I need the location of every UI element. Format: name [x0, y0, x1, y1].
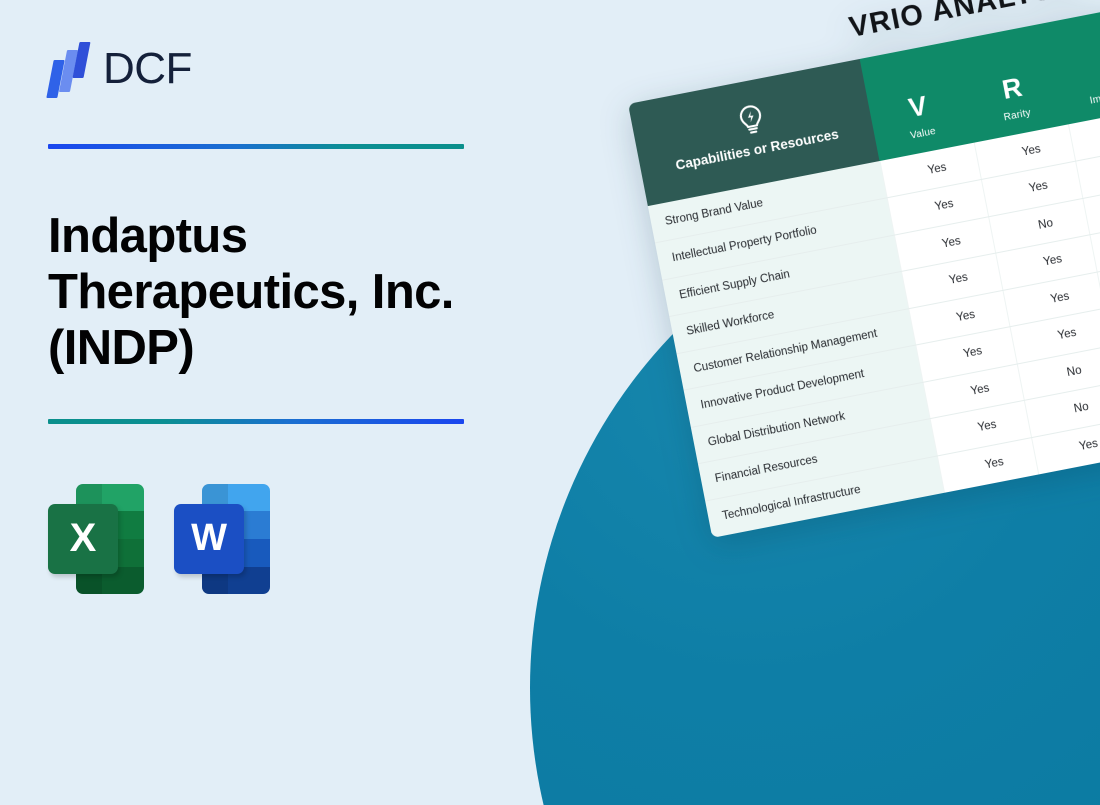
download-formats: X W — [48, 480, 530, 598]
excel-file-icon[interactable]: X — [48, 480, 144, 598]
cover-canvas: DCF Indaptus Therapeutics, Inc. (INDP) X… — [0, 0, 1100, 805]
word-badge-letter: W — [174, 504, 244, 574]
three-bars-logo-icon — [48, 42, 92, 96]
vrio-table-graphic: VRIO ANALYSIS — [628, 0, 1100, 537]
page-title: Indaptus Therapeutics, Inc. (INDP) — [48, 209, 518, 377]
vrio-table: Capabilities or Resources V Value R Rari… — [628, 0, 1100, 537]
brand-logo[interactable]: DCF — [48, 38, 530, 100]
column-letter-i: I — [1061, 49, 1100, 92]
left-content-panel: DCF Indaptus Therapeutics, Inc. (INDP) X… — [0, 0, 530, 805]
divider-top — [48, 144, 464, 149]
logo-text: DCF — [103, 47, 192, 91]
word-file-icon[interactable]: W — [174, 480, 270, 598]
excel-badge-letter: X — [48, 504, 118, 574]
divider-bottom — [48, 419, 464, 424]
